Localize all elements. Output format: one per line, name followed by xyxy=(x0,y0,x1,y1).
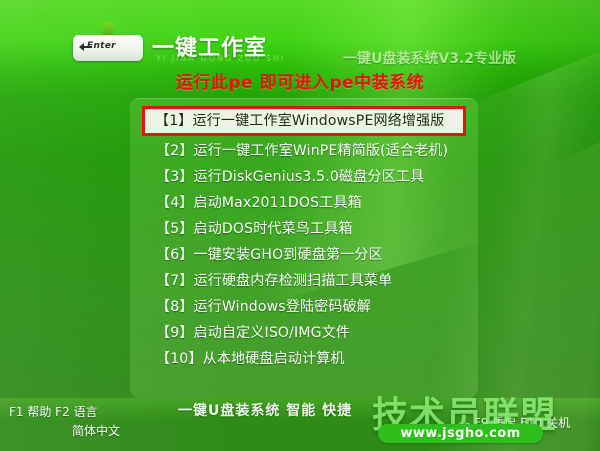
footer-slogan: 一键U盘装系统 智能 快捷 xyxy=(178,400,352,420)
boot-menu-list: 【1】运行一键工作室WindowsPE网络增强版【2】运行一键工作室WinPE精… xyxy=(130,106,478,372)
boot-menu-panel: 【1】运行一键工作室WindowsPE网络增强版【2】运行一键工作室WinPE精… xyxy=(130,98,478,398)
function-keys-left[interactable]: F1 帮助 F2 语言 xyxy=(9,403,98,420)
boot-menu-item[interactable]: 【3】运行DiskGenius3.5.0磁盘分区工具 xyxy=(146,164,462,190)
boot-menu-item[interactable]: 【10】从本地硬盘启动计算机 xyxy=(146,346,462,372)
boot-menu-item[interactable]: 【5】启动DOS时代菜鸟工具箱 xyxy=(146,216,462,242)
function-keys-right[interactable]: F9 重启 F10 关机 xyxy=(474,414,570,431)
boot-menu-item[interactable]: 【4】启动Max2011DOS工具箱 xyxy=(146,190,462,216)
boot-menu-item[interactable]: 【2】运行一键工作室WinPE精简版(适合老机) xyxy=(146,138,462,164)
boot-menu-item[interactable]: 【6】一键安装GHO到硬盘第一分区 xyxy=(146,242,462,268)
brand-subtitle: YI JIAN GONG ZUO SHI xyxy=(156,54,285,63)
enter-label: Enter xyxy=(87,41,116,51)
footer-status-bar: F1 帮助 F2 语言 简体中文 一键U盘装系统 智能 快捷 F9 重启 F10… xyxy=(0,398,600,451)
boot-menu-item[interactable]: 【7】运行硬盘内存检测扫描工具菜单 xyxy=(146,268,462,294)
header: Enter 一键工作室 YI JIAN GONG ZUO SHI 一键U盘装系统… xyxy=(0,0,600,70)
boot-menu-item-selected[interactable]: 【1】运行一键工作室WindowsPE网络增强版 xyxy=(142,106,466,136)
boot-menu-item[interactable]: 【8】运行Windows登陆密码破解 xyxy=(146,294,462,320)
boot-menu-item[interactable]: 【9】启动自定义ISO/IMG文件 xyxy=(146,320,462,346)
boot-menu-screen: Enter 一键工作室 YI JIAN GONG ZUO SHI 一键U盘装系统… xyxy=(0,0,600,451)
enter-key-icon: Enter xyxy=(73,22,143,62)
language-value: 简体中文 xyxy=(72,422,120,439)
version-tag: 一键U盘装系统V3.2专业版 xyxy=(343,48,516,68)
headline-instruction: 运行此pe 即可进入pe中装系统 xyxy=(0,68,600,93)
